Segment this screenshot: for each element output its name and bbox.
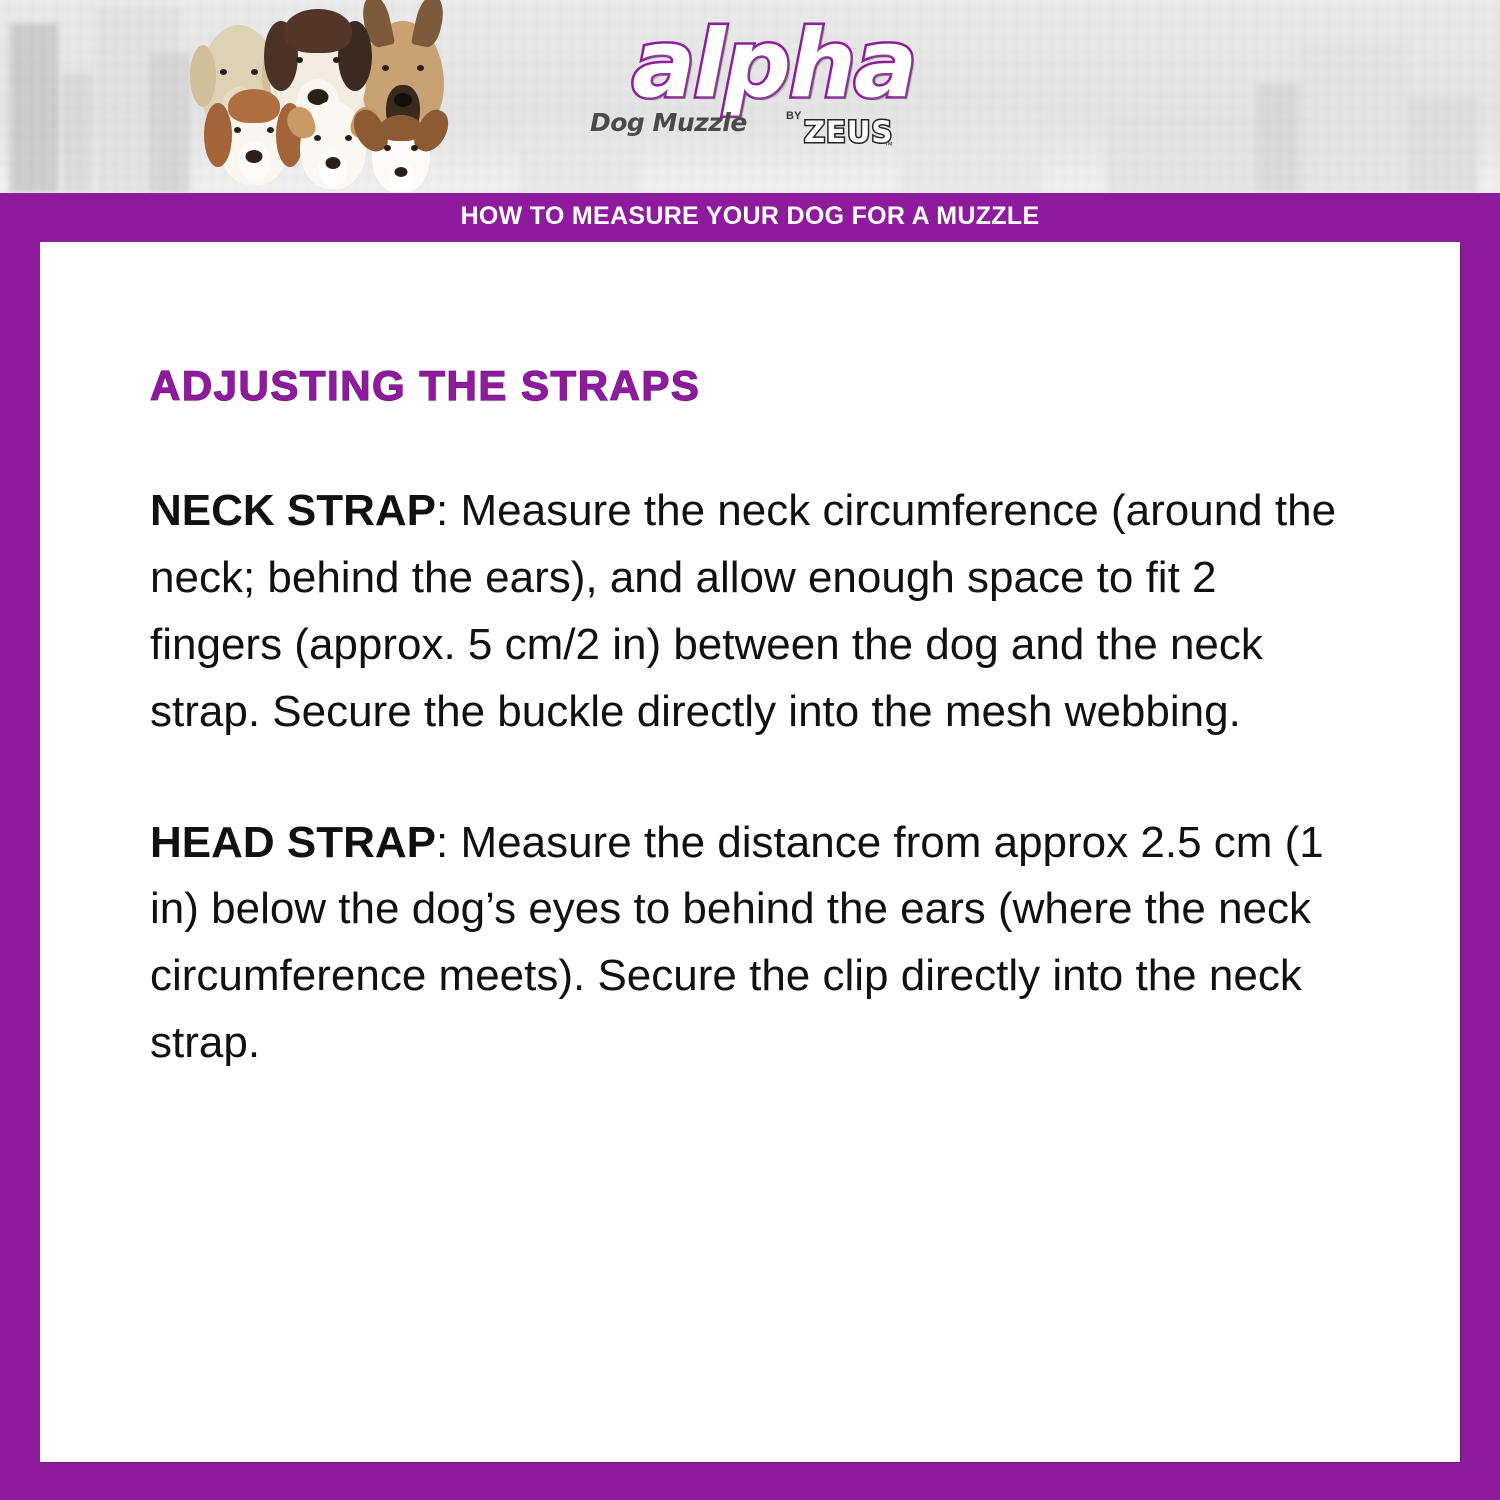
dog-eye [220,69,227,75]
paragraph-head-strap: HEAD STRAP: Measure the distance from ap… [150,810,1350,1078]
logo-tagline: Dog Muzzle [590,108,747,137]
dog-eye [234,127,241,133]
dog-eye [251,69,258,75]
dog-head-marking [284,9,352,53]
dog-nose [395,167,408,177]
dog-eye [314,135,321,141]
dog-group-photo [196,3,496,193]
dog-head-marking [228,89,280,123]
paragraph-lead-label: HEAD STRAP [150,818,436,867]
dog-eye [417,65,424,71]
dog-eye [267,127,274,133]
dog-eye [345,135,352,141]
zeus-wordmark: ZEUS [804,118,893,147]
alpha-brand-logo: alpha Dog Muzzle BY ZEUS ™ [588,22,898,154]
content-body: ADJUSTING THE STRAPS NECK STRAP: Measure… [40,242,1460,1077]
header-banner-image: alpha Dog Muzzle BY ZEUS ™ [0,0,1500,193]
dog-papillon [372,115,430,193]
dog-nose [394,93,412,107]
logo-by-label: BY [786,110,801,122]
paragraph-lead-label: NECK STRAP [150,486,436,535]
logo-wordmark: alpha [632,18,915,112]
dog-head-marking [380,115,422,141]
page-banner: HOW TO MEASURE YOUR DOG FOR A MUZZLE [0,193,1500,239]
dog-eye [333,57,340,63]
dog-eye [411,145,418,151]
dog-nose [246,150,263,163]
trademark-symbol: ™ [884,140,893,150]
dog-eye [296,57,303,63]
dog-ear [190,45,216,107]
section-heading: ADJUSTING THE STRAPS [150,362,1398,410]
content-card: ADJUSTING THE STRAPS NECK STRAP: Measure… [40,242,1460,1462]
infographic-page: alpha Dog Muzzle BY ZEUS ™ HOW TO MEASUR… [0,0,1500,1500]
dog-ear [411,0,447,49]
dog-nose [326,157,341,169]
dog-eye [384,145,391,151]
dog-eye [382,65,389,71]
paragraph-neck-strap: NECK STRAP: Measure the neck circumferen… [150,478,1350,746]
page-title: HOW TO MEASURE YOUR DOG FOR A MUZZLE [461,202,1040,231]
dog-beagle [218,89,290,185]
